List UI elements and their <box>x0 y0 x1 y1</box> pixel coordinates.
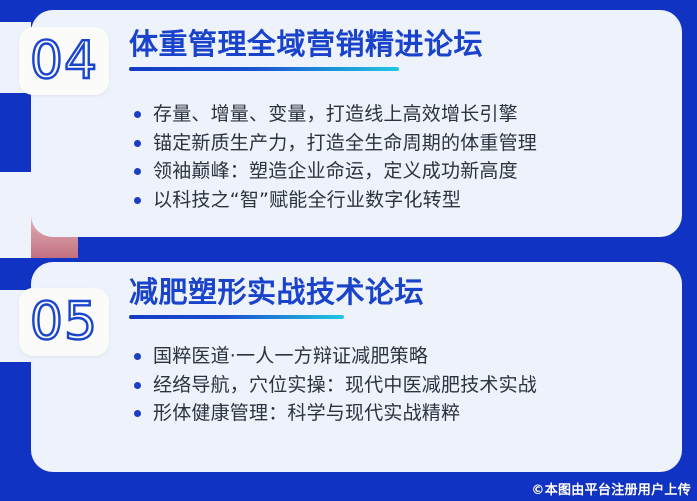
agenda-card-04: 体重管理全域营销精进论坛 存量、增量、变量，打造线上高效增长引擎 锚定新质生产力… <box>31 10 682 237</box>
list-item: 国粹医道·一人一方辩证减肥策略 <box>134 342 664 371</box>
card-05-number: 05 <box>30 296 98 348</box>
card-04-number: 04 <box>30 35 98 87</box>
card-05-number-badge: 05 <box>19 288 109 356</box>
agenda-card-05: 减肥塑形实战技术论坛 国粹医道·一人一方辩证减肥策略 经络导航，穴位实操：现代中… <box>31 262 682 472</box>
card-05-title-block: 减肥塑形实战技术论坛 <box>129 276 424 319</box>
watermark-text: ©本图由平台注册用户上传 <box>531 479 691 498</box>
list-item: 形体健康管理：科学与现代实战精粹 <box>134 399 664 428</box>
list-item: 领袖巅峰：塑造企业命运，定义成功新高度 <box>134 157 664 186</box>
card-05-bullet-list: 国粹医道·一人一方辩证减肥策略 经络导航，穴位实操：现代中医减肥技术实战 形体健… <box>134 342 664 428</box>
left-gutter-strip-middle <box>0 172 31 258</box>
card-05-title-underline <box>129 315 344 319</box>
poster-canvas: 体重管理全域营销精进论坛 存量、增量、变量，打造线上高效增长引擎 锚定新质生产力… <box>0 0 697 501</box>
card-04-title-block: 体重管理全域营销精进论坛 <box>129 28 483 71</box>
list-item: 锚定新质生产力，打造全生命周期的体重管理 <box>134 129 664 158</box>
list-item: 存量、增量、变量，打造线上高效增长引擎 <box>134 100 664 129</box>
card-04-title-underline <box>129 67 399 71</box>
card-04-bullet-list: 存量、增量、变量，打造线上高效增长引擎 锚定新质生产力，打造全生命周期的体重管理… <box>134 100 664 214</box>
list-item: 经络导航，穴位实操：现代中医减肥技术实战 <box>134 371 664 400</box>
card-04-number-badge: 04 <box>19 27 109 95</box>
card-04-content: 体重管理全域营销精进论坛 存量、增量、变量，打造线上高效增长引擎 锚定新质生产力… <box>129 10 664 237</box>
card-04-title: 体重管理全域营销精进论坛 <box>129 28 483 62</box>
card-05-content: 减肥塑形实战技术论坛 国粹医道·一人一方辩证减肥策略 经络导航，穴位实操：现代中… <box>129 262 664 472</box>
list-item: 以科技之“智”赋能全行业数字化转型 <box>134 186 664 215</box>
card-05-title: 减肥塑形实战技术论坛 <box>129 276 424 310</box>
